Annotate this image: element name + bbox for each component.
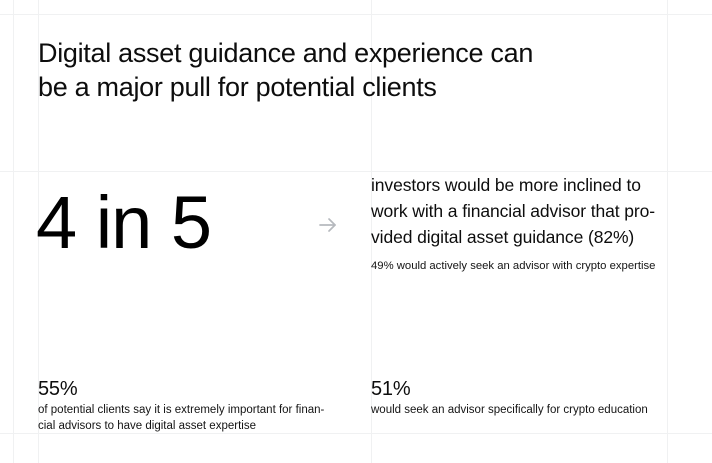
hero-stat-caption: 49% would actively seek an advisor with …: [371, 259, 671, 274]
stat-value: 51%: [371, 377, 671, 401]
guide-line-vertical-1: [13, 0, 14, 463]
stat-description: would seek an advisor specifically for c…: [371, 402, 671, 418]
stat-value: 55%: [38, 377, 343, 401]
guide-line-horizontal-1: [0, 14, 712, 15]
stat-block-right: 51% would seek an advisor specifically f…: [371, 377, 671, 418]
stat-description: of potential clients say it is extremely…: [38, 402, 343, 434]
stat-block-left: 55% of potential clients say it is extre…: [38, 377, 343, 434]
slide-canvas: Digital asset guidance and experience ca…: [0, 0, 712, 463]
hero-stat-description: investors would be more inclined to work…: [371, 172, 671, 250]
hero-stat-value: 4 in 5: [36, 186, 211, 260]
arrow-right-icon: [316, 213, 340, 237]
page-title: Digital asset guidance and experience ca…: [38, 36, 663, 104]
